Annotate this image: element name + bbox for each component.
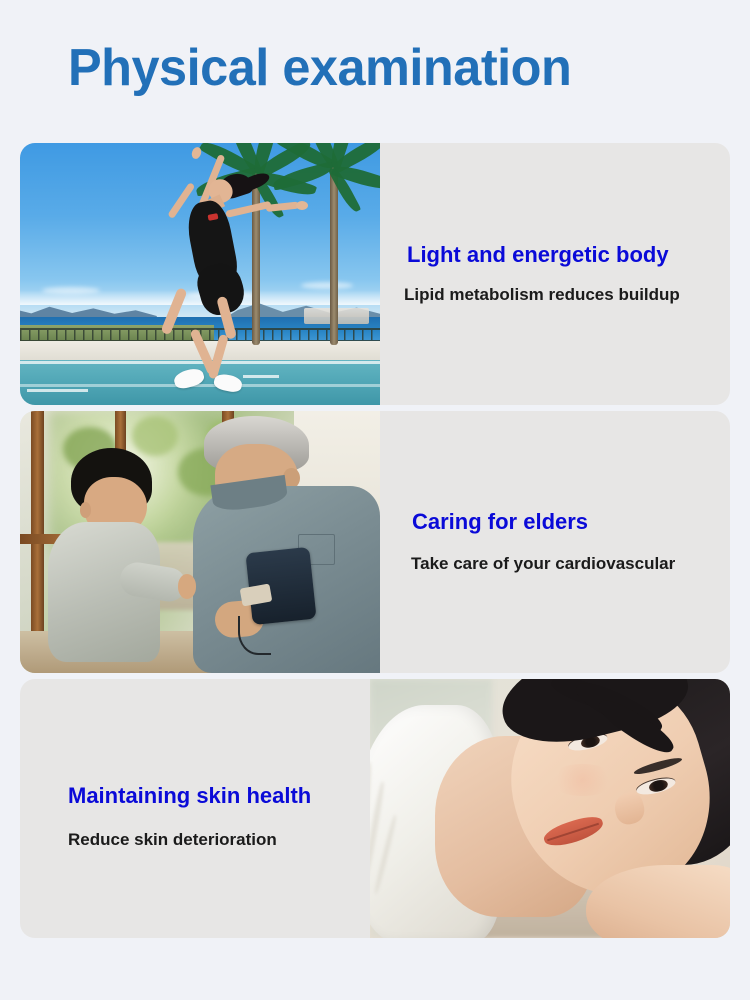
cheek-blush xyxy=(550,764,615,795)
portrait-scene-illustration xyxy=(370,679,730,938)
elderly-man-figure xyxy=(193,416,380,673)
athlete-scene-illustration xyxy=(20,143,380,405)
boy-figure xyxy=(45,448,189,673)
boy-measuring-elder-blood-pressure-photo xyxy=(20,411,380,673)
card-heading: Light and energetic body xyxy=(407,242,669,268)
care-scene-illustration xyxy=(20,411,380,673)
card-heading: Maintaining skin health xyxy=(68,783,311,809)
card-text-area: Caring for elders Take care of your card… xyxy=(380,411,730,673)
young-woman-skin-closeup-portrait-photo xyxy=(370,679,730,938)
card-light-and-energetic-body[interactable]: Light and energetic body Lipid metabolis… xyxy=(20,143,730,405)
card-heading: Caring for elders xyxy=(412,509,588,535)
window-frame xyxy=(31,411,44,636)
card-subtext: Lipid metabolism reduces buildup xyxy=(404,285,680,305)
page-title: Physical examination xyxy=(68,38,571,98)
woman-jumping-on-seaside-court-photo xyxy=(20,143,380,405)
card-subtext: Take care of your cardiovascular xyxy=(411,554,675,574)
card-text-area: Maintaining skin health Reduce skin dete… xyxy=(20,679,370,938)
jumping-athlete-figure xyxy=(128,153,337,405)
poster-page: Physical examination xyxy=(0,0,750,1000)
card-subtext: Reduce skin deterioration xyxy=(68,830,277,850)
card-maintaining-skin-health[interactable]: Maintaining skin health Reduce skin dete… xyxy=(20,679,730,938)
card-text-area: Light and energetic body Lipid metabolis… xyxy=(380,143,730,405)
court-line xyxy=(27,389,88,392)
card-caring-for-elders[interactable]: Caring for elders Take care of your card… xyxy=(20,411,730,673)
